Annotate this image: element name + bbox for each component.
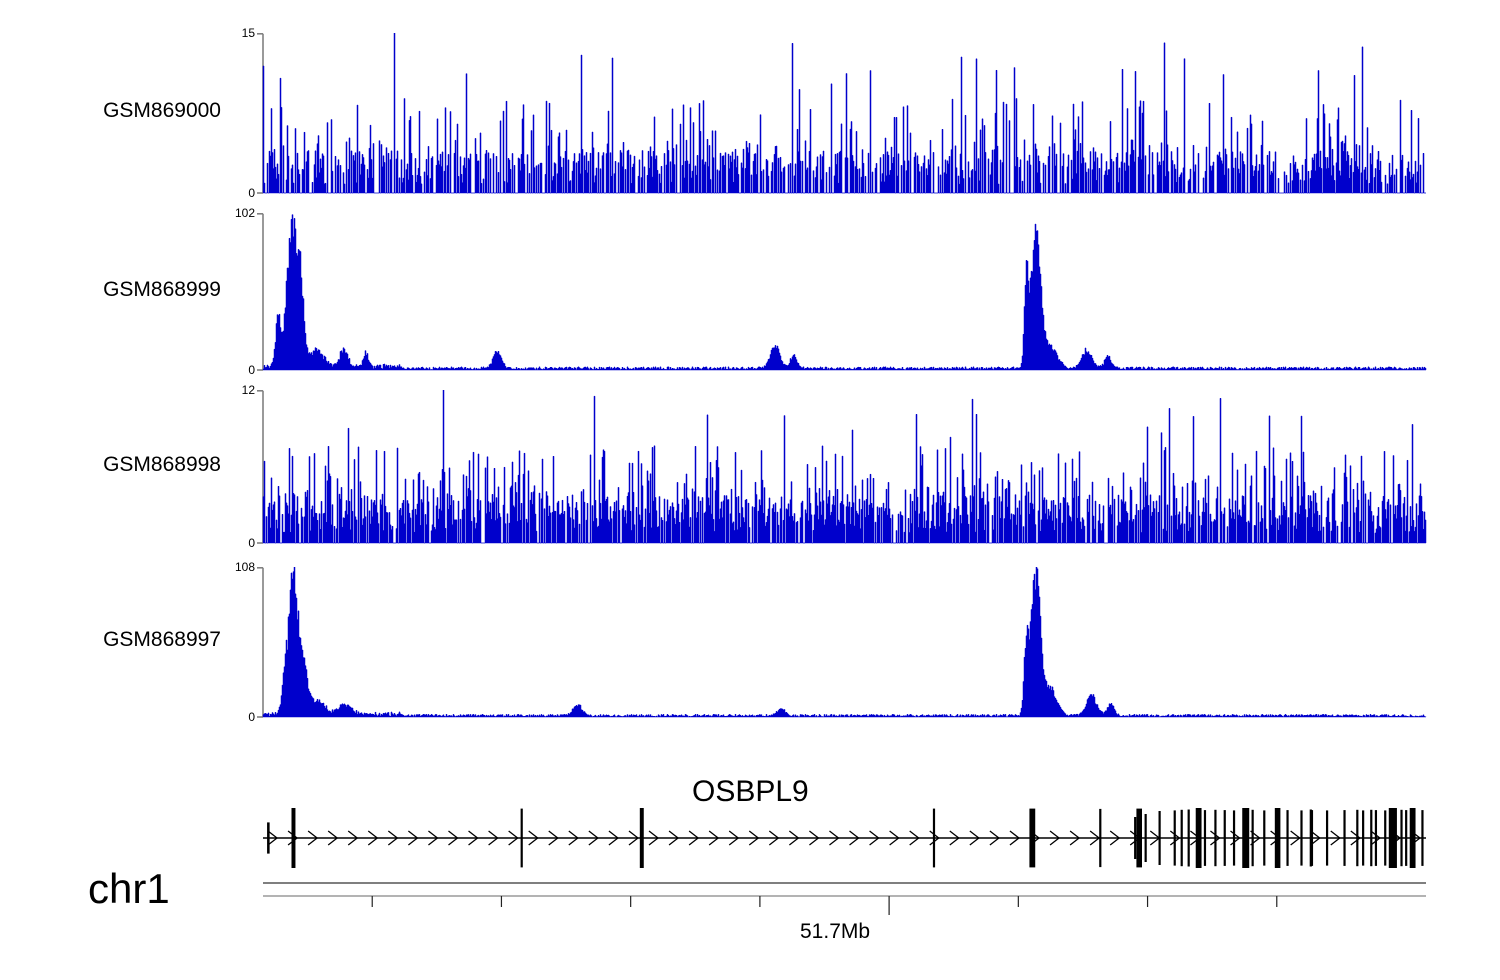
y-axis-GSM868999 xyxy=(257,214,263,370)
exon xyxy=(1410,808,1416,868)
y-axis-GSM868998 xyxy=(257,391,263,543)
exon xyxy=(1188,810,1190,867)
exon xyxy=(640,808,644,868)
gene-name: OSBPL9 xyxy=(692,775,809,809)
y-axis-GSM868997 xyxy=(257,568,263,717)
exon xyxy=(1196,808,1202,868)
track-label-GSM868999: GSM868999 xyxy=(0,278,221,302)
signal-path-GSM868998 xyxy=(263,390,1426,543)
exon xyxy=(1286,810,1288,866)
exon xyxy=(1263,810,1265,865)
exon xyxy=(1375,810,1377,866)
exon xyxy=(1174,810,1176,865)
signal-path-GSM868997 xyxy=(263,567,1426,717)
signal-path-GSM869000 xyxy=(263,33,1426,193)
exon xyxy=(521,809,523,868)
track-label-GSM868998: GSM868998 xyxy=(0,453,221,477)
signal-plot-GSM869000 xyxy=(255,33,1432,197)
exon xyxy=(1159,811,1161,865)
scale-position-label: 51.7Mb xyxy=(800,920,870,944)
exon xyxy=(1224,810,1226,866)
exon xyxy=(1099,809,1101,867)
exon xyxy=(1389,808,1397,868)
track-label-GSM868997: GSM868997 xyxy=(0,628,221,652)
exon xyxy=(1362,810,1364,865)
axis-max-GSM868997: 108 xyxy=(217,561,255,573)
axis-min-GSM869000: 0 xyxy=(217,187,255,199)
exon xyxy=(1029,809,1035,868)
exon xyxy=(1275,808,1281,868)
y-axis-GSM869000 xyxy=(257,34,263,193)
exon xyxy=(1145,814,1147,862)
coordinate-ruler xyxy=(263,879,1430,919)
exon xyxy=(1214,810,1216,866)
exon xyxy=(1300,810,1302,865)
exon xyxy=(267,822,270,853)
signal-path-GSM868999 xyxy=(263,215,1426,370)
exon xyxy=(1233,810,1235,865)
exon xyxy=(1393,809,1395,867)
exon xyxy=(1242,808,1249,868)
axis-max-GSM869000: 15 xyxy=(217,27,255,39)
axis-min-GSM868997: 0 xyxy=(217,711,255,723)
exon xyxy=(1356,810,1358,866)
track-label-GSM869000: GSM869000 xyxy=(0,99,221,123)
exon xyxy=(933,809,935,868)
exon xyxy=(291,808,295,868)
chromosome-label: chr1 xyxy=(88,865,170,913)
exon xyxy=(1384,810,1386,865)
exon xyxy=(1400,810,1402,866)
axis-min-GSM868999: 0 xyxy=(217,364,255,376)
axis-max-GSM868999: 102 xyxy=(217,207,255,219)
axis-max-GSM868998: 12 xyxy=(217,384,255,396)
exon xyxy=(1311,810,1313,866)
exon xyxy=(1370,810,1372,866)
signal-plot-GSM868997 xyxy=(255,567,1432,721)
exon xyxy=(1326,810,1328,865)
exon xyxy=(1421,810,1423,866)
signal-plot-GSM868998 xyxy=(255,390,1432,547)
exon xyxy=(1343,810,1345,866)
exon xyxy=(1134,817,1136,859)
exon xyxy=(1252,810,1254,866)
exon xyxy=(1136,809,1142,868)
signal-plot-GSM868999 xyxy=(255,213,1432,374)
gene-model xyxy=(263,808,1430,868)
genome-browser-view: GSM869000150GSM8689991020GSM868998120GSM… xyxy=(0,0,1500,980)
exon xyxy=(1204,810,1206,866)
exon xyxy=(1405,810,1407,866)
exon xyxy=(1181,810,1183,866)
axis-min-GSM868998: 0 xyxy=(217,537,255,549)
